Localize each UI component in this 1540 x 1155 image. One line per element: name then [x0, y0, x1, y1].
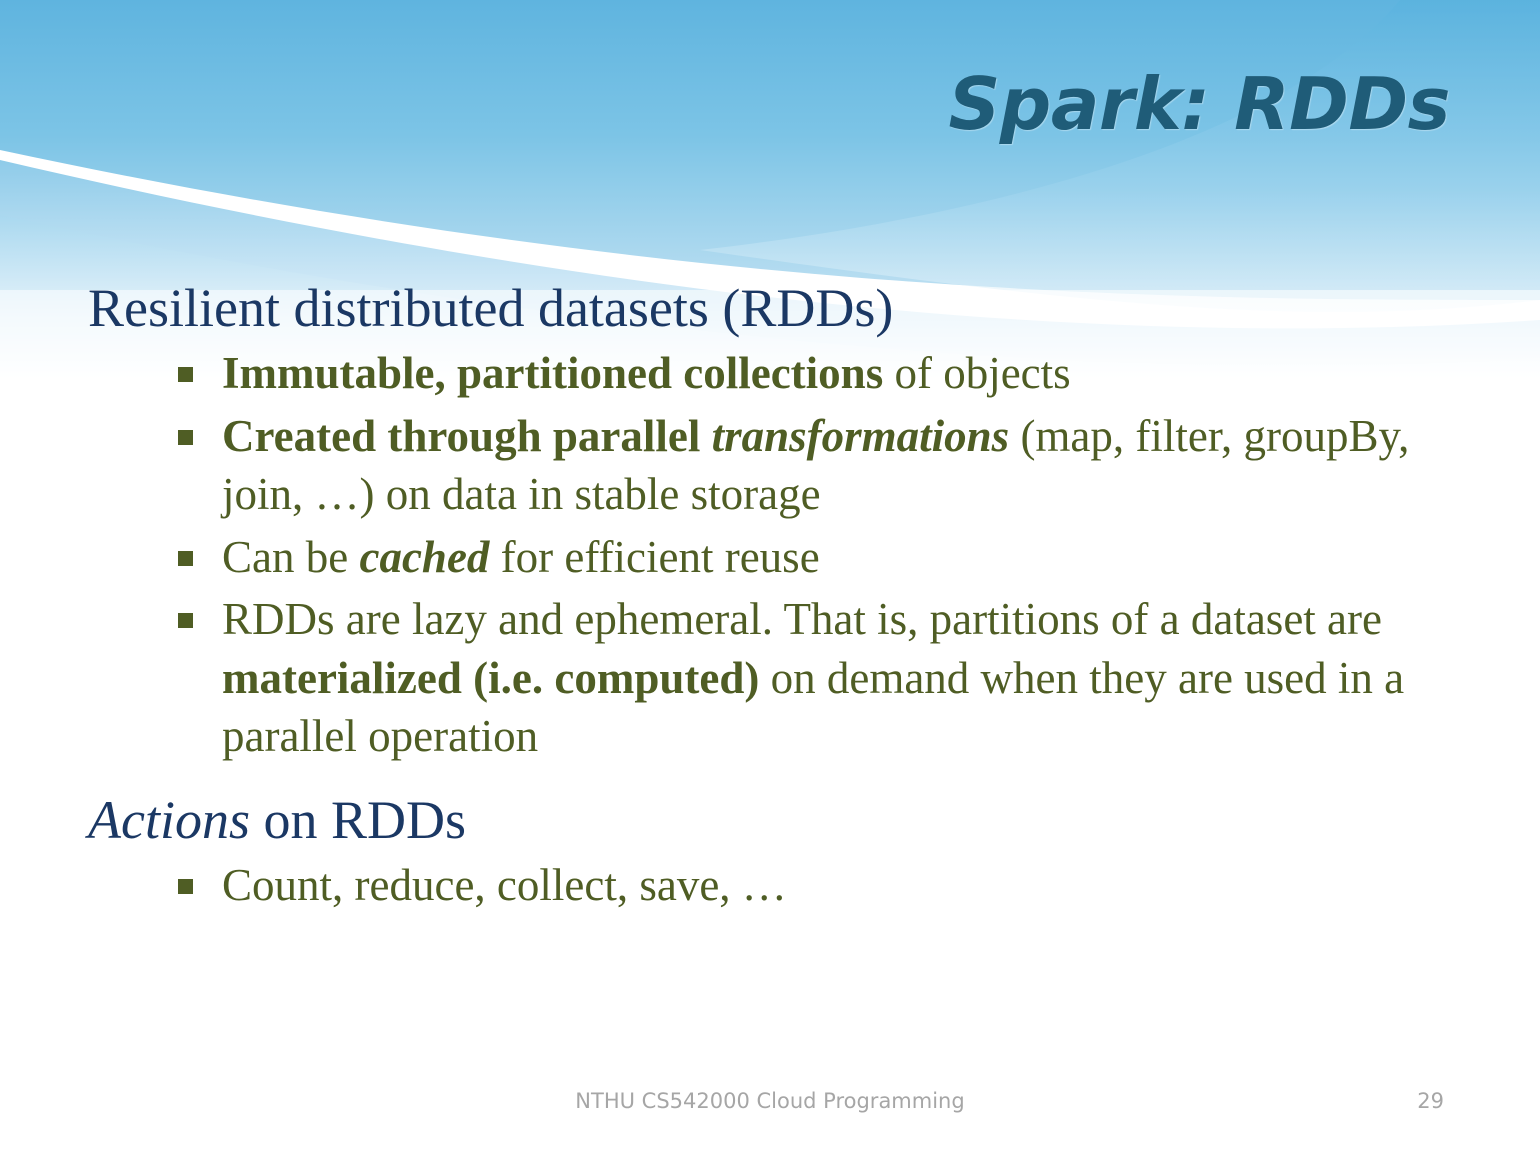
square-bullet-icon [178, 879, 193, 894]
list-item-text-end: for efficient reuse [489, 532, 819, 582]
section-heading-actions-text: on RDDs [250, 790, 466, 850]
slide-title: Spark: RDDs [948, 62, 1450, 146]
bullet-list-actions: Count, reduce, collect, save, … [88, 856, 1468, 915]
list-item-text: of objects [883, 348, 1070, 398]
list-item: Created through parallel transformations… [88, 407, 1468, 524]
list-item: RDDs are lazy and ephemeral. That is, pa… [88, 590, 1468, 766]
section-heading-actions-emphasis: Actions [88, 790, 250, 850]
square-bullet-icon [178, 430, 193, 445]
list-item: Count, reduce, collect, save, … [88, 856, 1468, 915]
footer-course-label: NTHU CS542000 Cloud Programming [0, 1089, 1540, 1113]
list-item-emphasis: Created through parallel [222, 411, 712, 461]
square-bullet-icon [178, 367, 193, 382]
bullet-list-rdds: Immutable, partitioned collections of ob… [88, 344, 1468, 766]
page-number: 29 [1417, 1089, 1444, 1113]
square-bullet-icon [178, 613, 193, 628]
list-item: Immutable, partitioned collections of ob… [88, 344, 1468, 403]
list-item-emphasis-italic: cached [359, 532, 489, 582]
section-heading-rdds: Resilient distributed datasets (RDDs) [88, 278, 1468, 338]
list-item-text: Count, reduce, collect, save, … [222, 860, 787, 910]
slide: Spark: RDDs Resilient distributed datase… [0, 0, 1540, 1155]
section-heading-rdds-text: Resilient distributed datasets (RDDs) [88, 278, 893, 338]
list-item-emphasis: Immutable, partitioned collections [222, 348, 883, 398]
list-item: Can be cached for efficient reuse [88, 528, 1468, 587]
list-item-text: RDDs are lazy and ephemeral. That is, pa… [222, 594, 1382, 644]
slide-body: Resilient distributed datasets (RDDs) Im… [88, 278, 1468, 923]
section-heading-actions: Actions on RDDs [88, 790, 1468, 850]
list-item-emphasis: materialized (i.e. computed) [222, 653, 759, 703]
square-bullet-icon [178, 551, 193, 566]
list-item-emphasis-italic: transformations [712, 411, 1010, 461]
list-item-text: Can be [222, 532, 359, 582]
